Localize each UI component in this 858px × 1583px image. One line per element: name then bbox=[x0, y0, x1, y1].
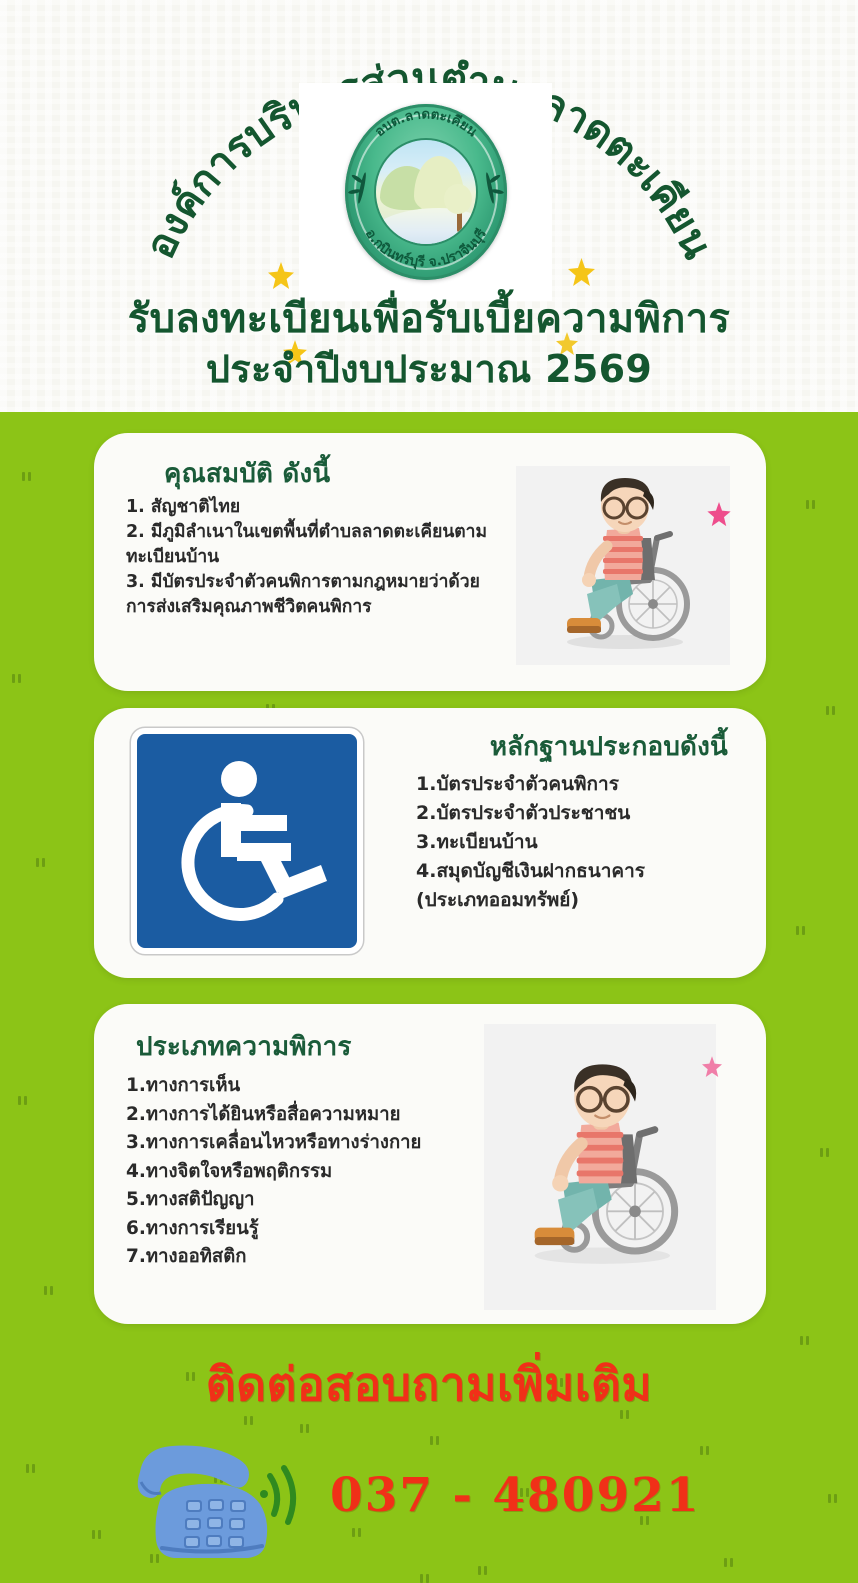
poster-header: องค์การบริหารส่วนตำบลลาดตะเคียน bbox=[0, 0, 858, 412]
card-documents-list: 1.บัตรประจำตัวคนพิการ 2.บัตรประจำตัวประช… bbox=[416, 770, 736, 915]
seal-bottom-text: อ.กบินทร์บุรี จ.ปราจีนบุรี bbox=[345, 214, 507, 276]
card-qualifications: คุณสมบัติ ดังนี้ 1. สัญชาติไทย 2. มีภูมิ… bbox=[94, 433, 766, 691]
infographic-poster: องค์การบริหารส่วนตำบลลาดตะเคียน bbox=[0, 0, 858, 1583]
card-disability-types-title: ประเภทความพิการ bbox=[136, 1026, 352, 1067]
card-qualifications-title: คุณสมบัติ ดังนี้ bbox=[164, 453, 330, 494]
phone-number: 037 - 480921 bbox=[330, 1468, 770, 1523]
zigzag-divider bbox=[0, 396, 858, 412]
telephone-ringing-icon bbox=[128, 1438, 318, 1573]
card-documents-title: หลักฐานประกอบดังนี้ bbox=[490, 726, 728, 767]
seal-top-text: อบต.ลาดตะเคียน bbox=[345, 110, 507, 174]
svg-text:อ.กบินทร์บุรี จ.ปราจีนบุรี: อ.กบินทร์บุรี จ.ปราจีนบุรี bbox=[361, 226, 490, 271]
pink-star-icon bbox=[707, 502, 731, 531]
seal-tree-canopy bbox=[444, 184, 472, 214]
municipal-seal-icon: อบต.ลาดตะเคียน อ.กบินทร์บุรี จ.ปราจีนบุร… bbox=[345, 104, 507, 280]
contact-title: ติดต่อสอบถามเพิ่มเติม bbox=[0, 1348, 858, 1421]
card-documents: หลักฐานประกอบดังนี้ 1.บัตรประจำตัวคนพิกา… bbox=[94, 708, 766, 978]
headline-line-2: ประจำปีงบประมาณ 2569 bbox=[0, 344, 858, 394]
card-disability-types: ประเภทความพิการ 1.ทางการเห็น 2.ทางการได้… bbox=[94, 1004, 766, 1324]
card-qualifications-list: 1. สัญชาติไทย 2. มีภูมิลำเนาในเขตพื้นที่… bbox=[126, 495, 566, 620]
card-disability-types-list: 1.ทางการเห็น 2.ทางการได้ยินหรือสื่อความห… bbox=[126, 1072, 506, 1272]
wheelchair-user-3d-icon bbox=[516, 466, 730, 665]
seal-container: อบต.ลาดตะเคียน อ.กบินทร์บุรี จ.ปราจีนบุร… bbox=[299, 83, 552, 301]
pink-star-icon bbox=[702, 1056, 722, 1082]
wheelchair-user-3d-icon bbox=[484, 1024, 716, 1310]
svg-text:อบต.ลาดตะเคียน: อบต.ลาดตะเคียน bbox=[371, 110, 480, 141]
headline-line-1: รับลงทะเบียนเพื่อรับเบี้ยความพิการ bbox=[0, 294, 858, 344]
page-title: รับลงทะเบียนเพื่อรับเบี้ยความพิการ ประจำ… bbox=[0, 294, 858, 394]
accessibility-sign-icon bbox=[131, 728, 363, 954]
